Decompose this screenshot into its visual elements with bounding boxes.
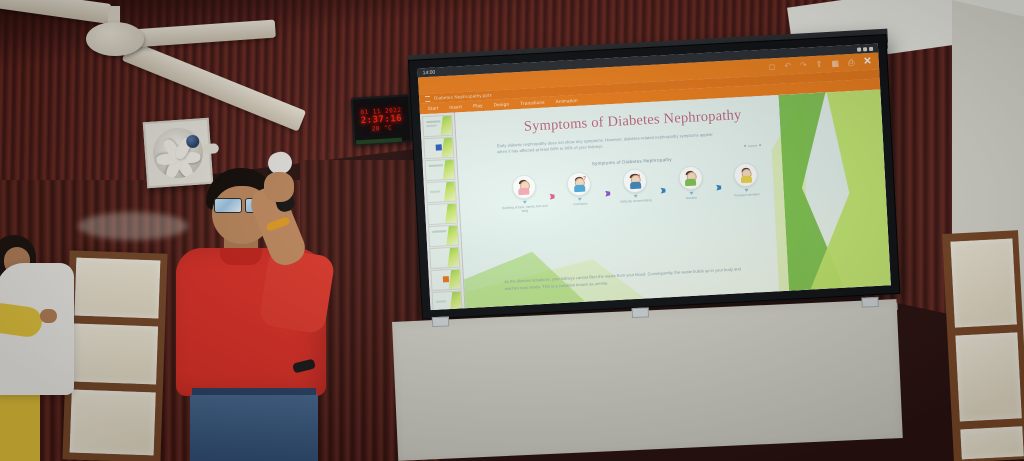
slide-thumbnail[interactable] bbox=[430, 268, 461, 291]
symptom-item: ? Confusion bbox=[556, 171, 603, 208]
clock-temperature: 28 °C bbox=[372, 125, 393, 132]
headache-person-icon: ! bbox=[622, 168, 647, 193]
current-slide[interactable]: Symptoms of Diabetes Nephropathy Early d… bbox=[455, 90, 891, 309]
connector-arrow bbox=[550, 193, 555, 199]
restore-icon[interactable]: ◻ bbox=[769, 63, 776, 71]
whiteboard-hinge bbox=[632, 307, 649, 318]
slide-thumbnail[interactable] bbox=[427, 203, 458, 226]
grid-icon[interactable]: ▦ bbox=[831, 59, 839, 67]
pin-icon bbox=[745, 189, 749, 192]
tab-play[interactable]: Play bbox=[473, 103, 483, 109]
symptom-item: ! Difficulty concentrating bbox=[611, 168, 658, 205]
slide-thumbnail[interactable] bbox=[428, 225, 459, 248]
symptom-label: Confusion bbox=[573, 202, 587, 207]
slide-thumbnail[interactable] bbox=[423, 137, 454, 160]
slide-canvas[interactable]: Symptoms of Diabetes Nephropathy Early d… bbox=[455, 90, 891, 309]
share-icon[interactable]: ⇧ bbox=[816, 60, 823, 68]
pin-icon bbox=[689, 192, 693, 195]
signal-icon bbox=[863, 47, 867, 51]
whiteboard-hinge bbox=[861, 297, 878, 308]
hamburger-icon[interactable] bbox=[425, 95, 430, 101]
pin-icon bbox=[523, 201, 527, 204]
slide-thumbnail[interactable] bbox=[432, 290, 463, 310]
presenter-belt bbox=[192, 388, 316, 395]
sunglasses-lens bbox=[214, 198, 242, 213]
tab-insert[interactable]: Insert bbox=[449, 104, 462, 110]
symptom-icon-row: Swelling of face, hands, feet and belly … bbox=[500, 162, 770, 215]
fan-motor-hub bbox=[86, 22, 144, 56]
presenter-person bbox=[168, 168, 358, 461]
nausea-person-icon bbox=[678, 165, 703, 190]
display-screen[interactable]: 14:00 ◻ ↶ ↷ ⇧ ▦ ⎙ ✕ Diabetes Nep bbox=[417, 44, 890, 311]
presenter-collar bbox=[220, 248, 262, 265]
whiteboard bbox=[392, 299, 903, 461]
status-bar-clock: 14:00 bbox=[423, 69, 436, 76]
attendee-person bbox=[0, 235, 102, 461]
connector-arrow bbox=[661, 187, 666, 193]
presenter-hand bbox=[264, 172, 294, 202]
slide-decor-dots bbox=[744, 144, 761, 147]
wifi-icon bbox=[857, 47, 861, 51]
slide-thumbnail[interactable] bbox=[424, 159, 455, 182]
battery-icon bbox=[869, 46, 873, 50]
symptom-item: Nausea bbox=[667, 165, 714, 202]
tab-design[interactable]: Design bbox=[494, 102, 510, 108]
status-bar-icons bbox=[857, 46, 873, 51]
pin-icon bbox=[578, 198, 582, 201]
symptom-label: Frequent urination bbox=[734, 192, 760, 198]
tab-transitions[interactable]: Transitions bbox=[520, 100, 545, 106]
classroom-presentation-photo: 01 11 2022 2:37:16 28 °C 14:00 ◻ ↶ ↷ ⇧ bbox=[0, 0, 1024, 461]
connector-arrow bbox=[716, 184, 721, 190]
right-frosted-window bbox=[942, 230, 1024, 461]
symptom-label: Nausea bbox=[686, 196, 697, 201]
symptom-item: Frequent urination bbox=[723, 162, 770, 199]
connector-arrow bbox=[605, 190, 610, 196]
presenter-jeans bbox=[190, 390, 318, 461]
slide-thumbnail[interactable] bbox=[426, 181, 457, 204]
symptom-item: Swelling of face, hands, feet and belly bbox=[500, 174, 548, 215]
undo-icon[interactable]: ↶ bbox=[784, 62, 791, 70]
slide-thumbnail[interactable] bbox=[429, 247, 460, 270]
slide-thumbnail[interactable] bbox=[422, 115, 453, 138]
slide-title: Symptoms of Diabetes Nephropathy bbox=[493, 105, 772, 137]
redo-icon[interactable]: ↷ bbox=[800, 61, 807, 69]
symptom-label: Difficulty concentrating bbox=[620, 198, 652, 204]
exhaust-fan-arm bbox=[202, 143, 219, 154]
swollen-face-icon bbox=[511, 174, 536, 199]
tab-animation[interactable]: Animation bbox=[555, 98, 577, 104]
pin-icon bbox=[634, 195, 638, 198]
whiteboard-hinge bbox=[432, 316, 449, 327]
print-icon[interactable]: ⎙ bbox=[848, 58, 855, 66]
close-icon[interactable]: ✕ bbox=[863, 56, 872, 67]
interactive-display[interactable]: 14:00 ◻ ↶ ↷ ⇧ ▦ ⎙ ✕ Diabetes Nep bbox=[408, 34, 900, 320]
symptom-label: Swelling of face, hands, feet and belly bbox=[502, 204, 548, 215]
editor-workspace: Symptoms of Diabetes Nephropathy Early d… bbox=[420, 90, 891, 311]
tab-start[interactable]: Start bbox=[428, 105, 439, 111]
confused-person-icon: ? bbox=[567, 171, 592, 196]
urination-person-icon bbox=[733, 162, 758, 187]
attendee-hand bbox=[40, 309, 57, 323]
